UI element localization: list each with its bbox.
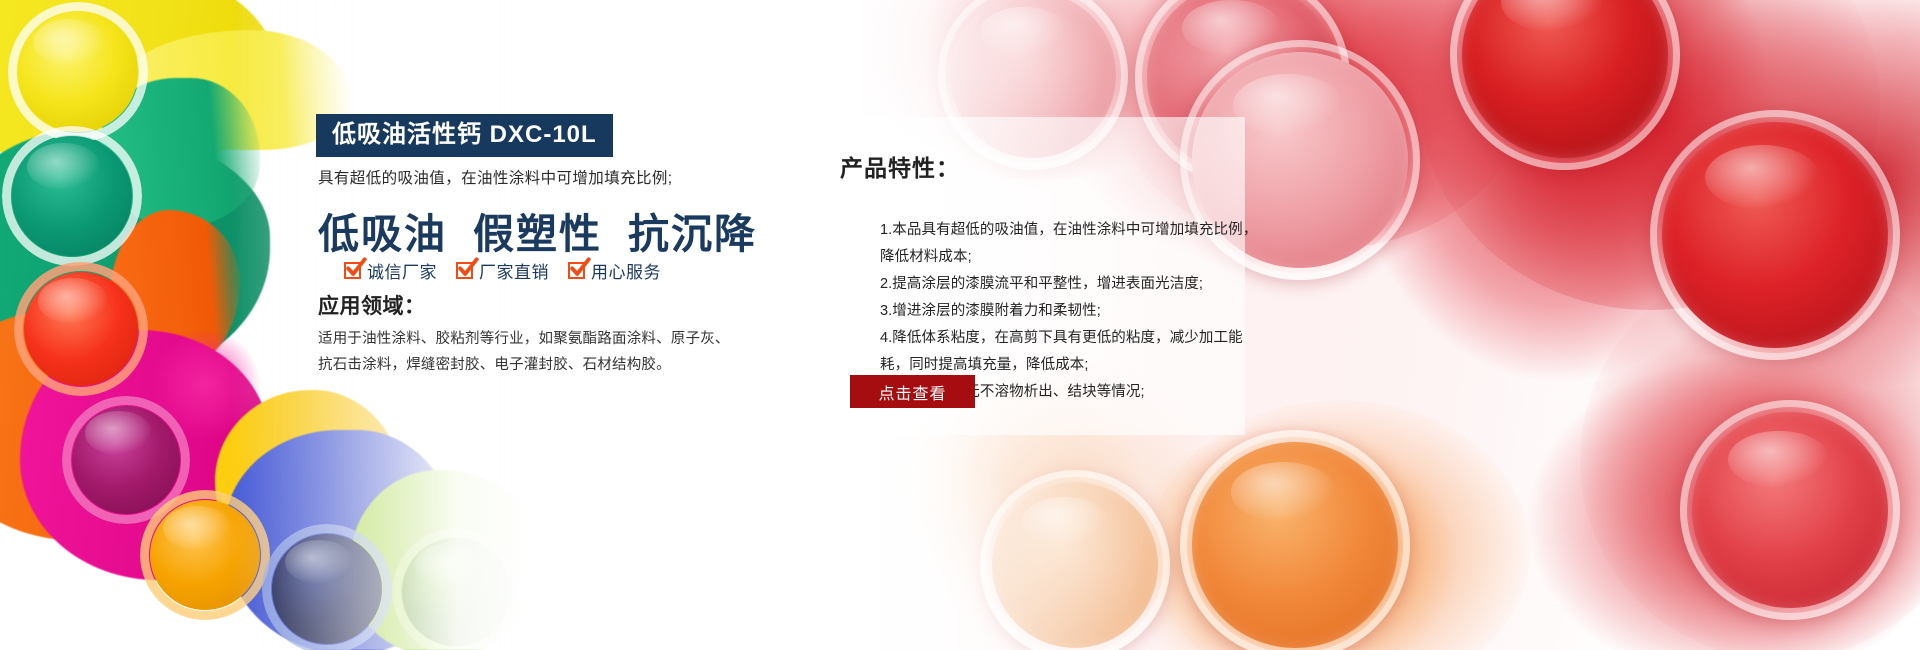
checkbox-checked-icon <box>344 262 361 279</box>
application-field-title: 应用领域： <box>318 290 426 320</box>
trust-badge-row: 诚信厂家 厂家直销 用心服务 <box>344 258 661 283</box>
paint-dish <box>1650 110 1900 360</box>
paint-pot-green <box>2 126 142 266</box>
checkbox-checked-icon <box>568 262 585 279</box>
trust-badge-item: 用心服务 <box>568 258 661 283</box>
product-info-column: 低吸油活性钙 DXC-10L 具有超低的吸油值，在油性涂料中可增加填充比例; 低… <box>316 0 786 650</box>
check-mark-icon <box>457 257 479 279</box>
paint-dish <box>1680 400 1900 620</box>
trust-badge-label: 厂家直销 <box>479 258 549 283</box>
checkbox-checked-icon <box>456 262 473 279</box>
headline-word-2: 假塑性 <box>473 211 602 257</box>
application-field-body: 适用于油性涂料、胶粘剂等行业，如聚氨酯路面涂料、原子灰、抗石击涂料，焊缝密封胶、… <box>318 326 738 378</box>
paint-pot-yellow <box>8 2 148 142</box>
view-details-button[interactable]: 点击查看 <box>850 375 975 408</box>
feature-item: 3.增进涂层的漆膜附着力和柔韧性; <box>880 298 1265 325</box>
headline-word-1: 低吸油 <box>318 211 447 257</box>
feature-item: 1.本品具有超低的吸油值，在油性涂料中可增加填充比例，降低材料成本; <box>880 217 1265 271</box>
product-banner: 低吸油活性钙 DXC-10L 具有超低的吸油值，在油性涂料中可增加填充比例; 低… <box>0 0 1920 650</box>
feature-item: 4.降低体系粘度，在高剪下具有更低的粘度，减少加工能耗，同时提高填充量，降低成本… <box>880 325 1265 379</box>
headline-word-3: 抗沉降 <box>628 211 757 257</box>
product-subtitle: 具有超低的吸油值，在油性涂料中可增加填充比例; <box>318 166 673 188</box>
features-title: 产品特性： <box>840 149 960 183</box>
product-title-badge: 低吸油活性钙 DXC-10L <box>316 114 613 157</box>
trust-badge-item: 诚信厂家 <box>344 258 437 283</box>
product-headline: 低吸油假塑性抗沉降 <box>318 200 757 260</box>
paint-pot-red <box>14 262 148 396</box>
trust-badge-label: 诚信厂家 <box>367 258 437 283</box>
feature-item: 2.提高涂层的漆膜流平和平整性，增进表面光洁度; <box>880 271 1265 298</box>
trust-badge-label: 用心服务 <box>591 258 661 283</box>
paint-dish <box>1180 430 1410 650</box>
check-mark-icon <box>569 257 591 279</box>
product-features-panel: 产品特性： 1.本品具有超低的吸油值，在油性涂料中可增加填充比例，降低材料成本;… <box>805 117 1245 435</box>
check-mark-icon <box>345 257 367 279</box>
trust-badge-item: 厂家直销 <box>456 258 549 283</box>
